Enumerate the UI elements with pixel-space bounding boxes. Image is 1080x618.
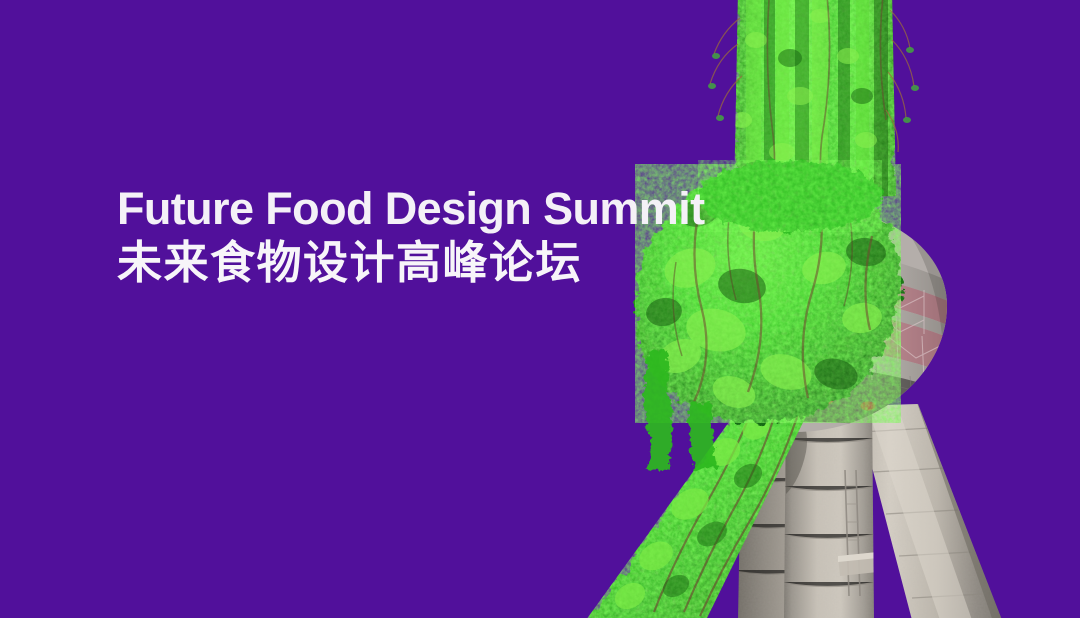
title-block: Future Food Design Summit 未来食物设计高峰论坛: [117, 186, 705, 285]
page-title-english: Future Food Design Summit: [117, 186, 705, 231]
ivy-tower-illustration: [0, 0, 1080, 618]
presentation-slide: Future Food Design Summit 未来食物设计高峰论坛: [0, 0, 1080, 618]
page-title-chinese: 未来食物设计高峰论坛: [117, 240, 705, 285]
